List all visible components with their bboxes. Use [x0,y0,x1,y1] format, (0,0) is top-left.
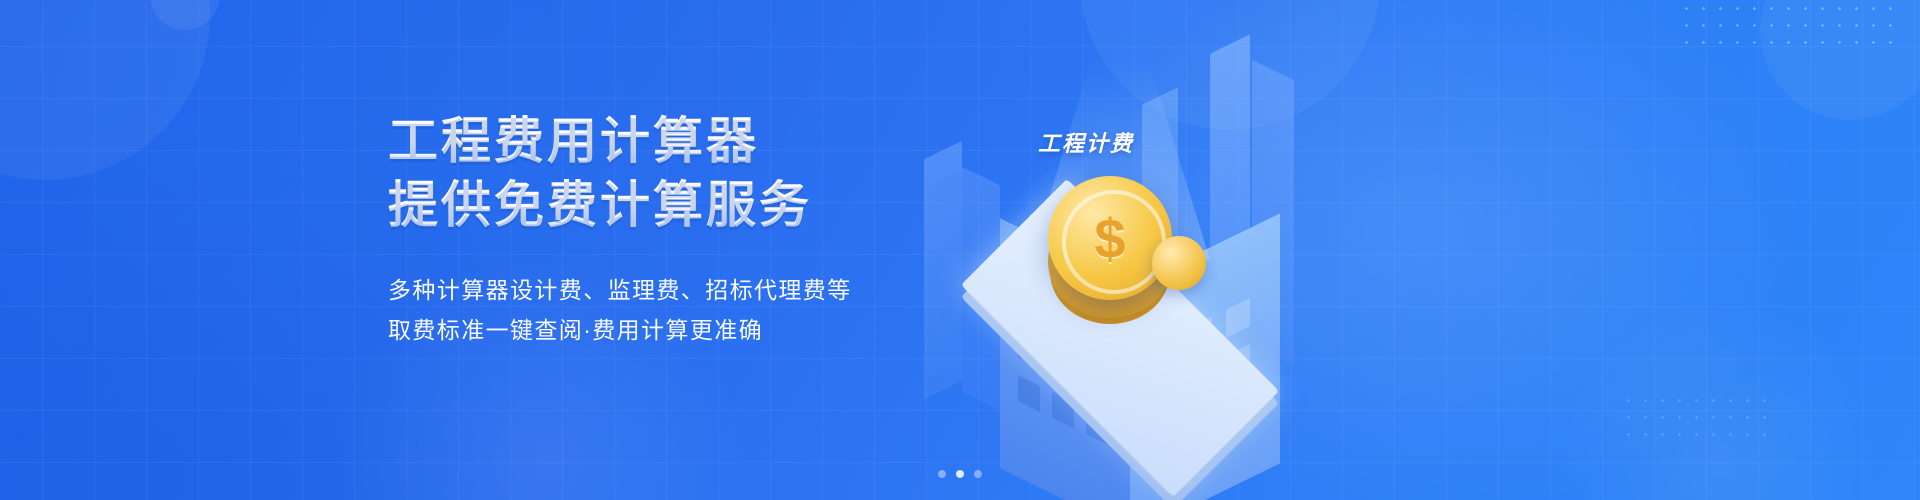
carousel-dots [0,470,1920,478]
hero-banner: 工程费用计算器 提供免费计算服务 多种计算器设计费、监理费、招标代理费等 取费标… [0,0,1920,500]
illustration-badge-label: 工程计费 [1038,126,1134,158]
banner-illustration: $ 工程计费 [880,0,1520,500]
decor-dot-matrix-bottom [1620,392,1770,436]
dollar-icon: $ [1048,176,1172,300]
carousel-dot-2[interactable] [956,470,964,478]
coin-small [1152,236,1206,290]
decor-dot-matrix-top [1678,0,1898,46]
decor-column-left-a [924,141,962,400]
carousel-dot-1[interactable] [938,470,946,478]
carousel-dot-3[interactable] [974,470,982,478]
